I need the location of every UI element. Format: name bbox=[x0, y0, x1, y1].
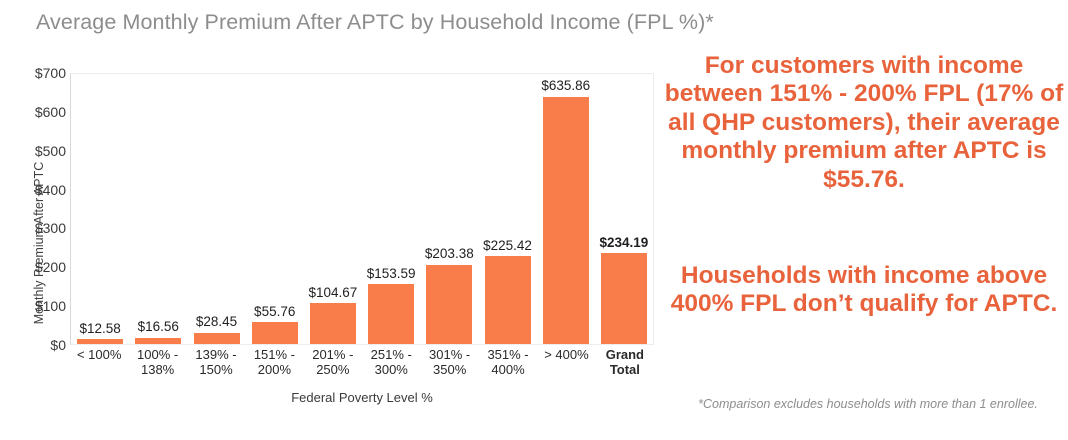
bar-slot[interactable]: $104.67 bbox=[304, 74, 362, 344]
bar-value-label: $225.42 bbox=[483, 239, 532, 253]
bar-slot[interactable]: $234.19 bbox=[595, 74, 653, 344]
y-axis-tick-label: $0 bbox=[12, 338, 66, 352]
bar-value-label: $203.38 bbox=[425, 247, 474, 261]
y-axis-tick-label: $700 bbox=[12, 66, 66, 80]
x-axis-tick-line: 400% bbox=[480, 363, 536, 378]
bar-slot[interactable]: $153.59 bbox=[362, 74, 420, 344]
x-axis-tick-label: 139% -150% bbox=[187, 348, 245, 377]
bar-value-label: $55.76 bbox=[254, 305, 295, 319]
x-axis-tick-label: 351% -400% bbox=[479, 348, 537, 377]
x-axis-tick-line: 350% bbox=[421, 363, 477, 378]
y-axis-tick-label: $300 bbox=[12, 221, 66, 235]
bar[interactable] bbox=[77, 339, 123, 344]
bar[interactable] bbox=[194, 333, 240, 344]
bar-value-label: $153.59 bbox=[367, 267, 416, 281]
x-axis-title: Federal Poverty Level % bbox=[70, 390, 654, 405]
x-axis-tick-label: 100% -138% bbox=[128, 348, 186, 377]
x-axis-tick-line: 150% bbox=[188, 363, 244, 378]
bar-slot[interactable]: $28.45 bbox=[187, 74, 245, 344]
x-axis-tick-line: 200% bbox=[246, 363, 302, 378]
callout-primary: For customers with income between 151% -… bbox=[660, 52, 1068, 194]
x-axis-tick-line: 250% bbox=[305, 363, 361, 378]
page-title: Average Monthly Premium After APTC by Ho… bbox=[36, 10, 714, 35]
bar[interactable] bbox=[543, 97, 589, 344]
x-axis-tick-label: 301% -350% bbox=[420, 348, 478, 377]
x-axis-tick-line: 251% - bbox=[363, 348, 419, 363]
bar[interactable] bbox=[601, 253, 647, 344]
bar-slot[interactable]: $225.42 bbox=[478, 74, 536, 344]
bar[interactable] bbox=[252, 322, 298, 344]
bar[interactable] bbox=[485, 256, 531, 344]
x-axis-tick-label: < 100% bbox=[70, 348, 128, 377]
callout-column: For customers with income between 151% -… bbox=[660, 0, 1068, 440]
bar-slot[interactable]: $16.56 bbox=[129, 74, 187, 344]
bar-series: $12.58$16.56$28.45$55.76$104.67$153.59$2… bbox=[71, 74, 653, 344]
y-axis-tick-label: $500 bbox=[12, 144, 66, 158]
x-axis-tick-label: 151% -200% bbox=[245, 348, 303, 377]
x-axis-tick-line: 100% - bbox=[129, 348, 185, 363]
y-axis-ticks: $700$600$500$400$300$200$100$0 bbox=[6, 50, 66, 370]
y-axis-tick-label: $100 bbox=[12, 299, 66, 313]
bar[interactable] bbox=[135, 338, 181, 344]
y-axis-tick-label: $400 bbox=[12, 183, 66, 197]
bar-chart: Monthly Premium After APTC $700$600$500$… bbox=[0, 50, 660, 440]
x-axis-tick-line: 301% - bbox=[421, 348, 477, 363]
x-axis-tick-label: GrandTotal bbox=[596, 348, 654, 377]
bar-value-label: $635.86 bbox=[541, 79, 590, 93]
x-axis-tick-line: 138% bbox=[129, 363, 185, 378]
x-axis-tick-line: < 100% bbox=[71, 348, 127, 363]
bar[interactable] bbox=[426, 265, 472, 344]
bar-value-label: $28.45 bbox=[196, 315, 237, 329]
footnote: *Comparison excludes households with mor… bbox=[682, 396, 1054, 413]
bar-value-label: $104.67 bbox=[309, 286, 358, 300]
bar-value-label: $16.56 bbox=[138, 320, 179, 334]
x-axis-tick-line: > 400% bbox=[538, 348, 594, 363]
x-axis-tick-line: 300% bbox=[363, 363, 419, 378]
bar-slot[interactable]: $203.38 bbox=[420, 74, 478, 344]
plot-inner: $12.58$16.56$28.45$55.76$104.67$153.59$2… bbox=[71, 74, 653, 344]
bar-slot[interactable]: $55.76 bbox=[246, 74, 304, 344]
x-axis-ticks: < 100%100% -138%139% -150%151% -200%201%… bbox=[70, 348, 654, 377]
x-axis-tick-label: > 400% bbox=[537, 348, 595, 377]
bar[interactable] bbox=[310, 303, 356, 344]
x-axis-tick-label: 251% -300% bbox=[362, 348, 420, 377]
bar-value-label: $12.58 bbox=[79, 322, 120, 336]
bar[interactable] bbox=[368, 284, 414, 344]
x-axis-tick-label: 201% -250% bbox=[304, 348, 362, 377]
x-axis-tick-line: Total bbox=[597, 363, 653, 378]
x-axis-tick-line: 201% - bbox=[305, 348, 361, 363]
bar-slot[interactable]: $635.86 bbox=[537, 74, 595, 344]
bar-value-label: $234.19 bbox=[600, 236, 649, 250]
x-axis-tick-line: 139% - bbox=[188, 348, 244, 363]
y-axis-tick-label: $600 bbox=[12, 105, 66, 119]
y-axis-tick-label: $200 bbox=[12, 260, 66, 274]
callout-secondary: Households with income above 400% FPL do… bbox=[660, 262, 1068, 319]
x-axis-tick-line: 351% - bbox=[480, 348, 536, 363]
bar-slot[interactable]: $12.58 bbox=[71, 74, 129, 344]
x-axis-tick-line: 151% - bbox=[246, 348, 302, 363]
plot-area: $12.58$16.56$28.45$55.76$104.67$153.59$2… bbox=[70, 73, 654, 345]
x-axis-tick-line: Grand bbox=[597, 348, 653, 363]
